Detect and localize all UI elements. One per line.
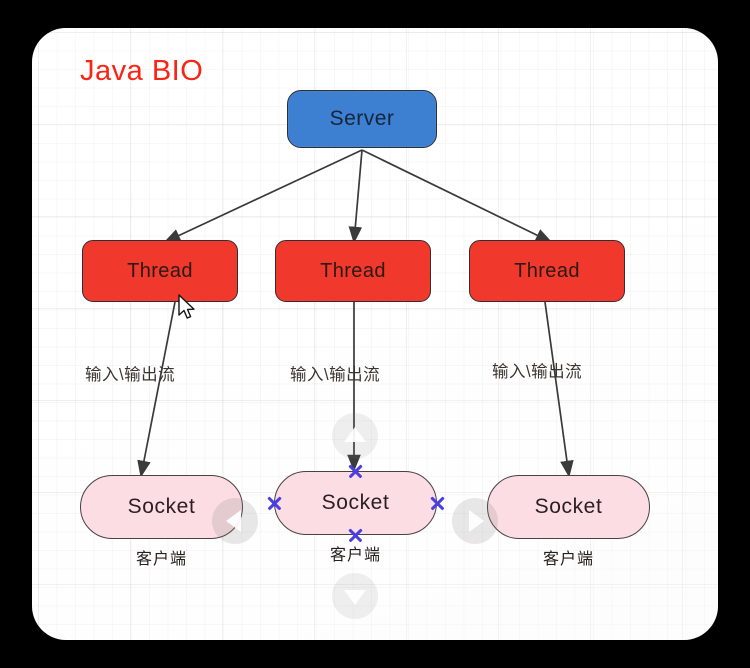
- node-socket-1-label: Socket: [128, 495, 196, 519]
- edge-label-stream-2: 输入\输出流: [290, 361, 380, 385]
- node-socket-3-caption: 客户端: [487, 545, 650, 569]
- node-thread-1[interactable]: Thread: [82, 240, 238, 302]
- edge-server-thread-2: [354, 150, 362, 242]
- node-socket-2-caption: 客户端: [274, 541, 437, 565]
- edge-label-stream-3: 输入\输出流: [492, 358, 582, 382]
- edge-thread-socket-3: [545, 302, 569, 476]
- node-socket-3-label: Socket: [535, 495, 603, 519]
- node-socket-2[interactable]: Socket: [274, 471, 437, 535]
- node-socket-3[interactable]: Socket: [487, 475, 650, 539]
- right-triangle-icon: [469, 510, 484, 532]
- down-triangle-icon: [344, 590, 366, 605]
- edge-server-thread-1: [165, 150, 362, 242]
- pan-right-button[interactable]: [452, 498, 498, 544]
- up-triangle-icon: [344, 427, 366, 442]
- node-server-label: Server: [330, 107, 395, 131]
- node-thread-3[interactable]: Thread: [469, 240, 625, 302]
- pan-left-button[interactable]: [212, 498, 258, 544]
- edge-thread-socket-1: [141, 302, 175, 476]
- edge-label-stream-1: 输入\输出流: [85, 361, 175, 385]
- left-triangle-icon: [226, 510, 241, 532]
- page-title: Java BIO: [80, 55, 203, 88]
- edge-server-thread-3: [362, 150, 551, 242]
- node-thread-2-label: Thread: [320, 260, 386, 283]
- diagram-canvas[interactable]: Java BIO Server Thread Thread Thread 输入\…: [32, 28, 718, 640]
- node-thread-3-label: Thread: [514, 260, 580, 283]
- node-socket-2-label: Socket: [322, 491, 390, 515]
- node-socket-1-caption: 客户端: [80, 545, 243, 569]
- node-server[interactable]: Server: [287, 90, 437, 148]
- node-thread-2[interactable]: Thread: [275, 240, 431, 302]
- pan-up-button[interactable]: [332, 413, 378, 459]
- pan-down-button[interactable]: [332, 573, 378, 619]
- node-thread-1-label: Thread: [127, 260, 193, 283]
- screenshot-root: Java BIO Server Thread Thread Thread 输入\…: [0, 0, 750, 668]
